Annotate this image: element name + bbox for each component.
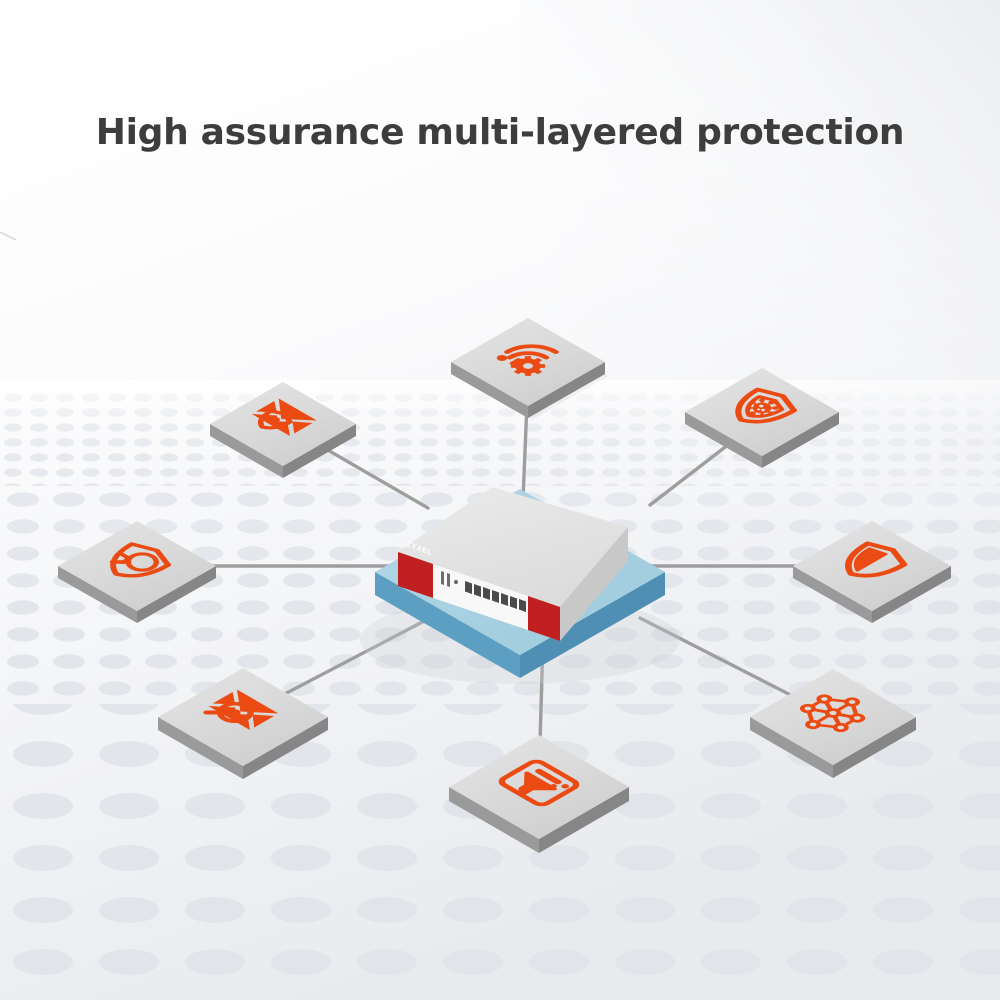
infographic-canvas: ZYXEL <box>0 0 1000 1000</box>
isometric-scene: ZYXEL <box>0 0 1000 1000</box>
